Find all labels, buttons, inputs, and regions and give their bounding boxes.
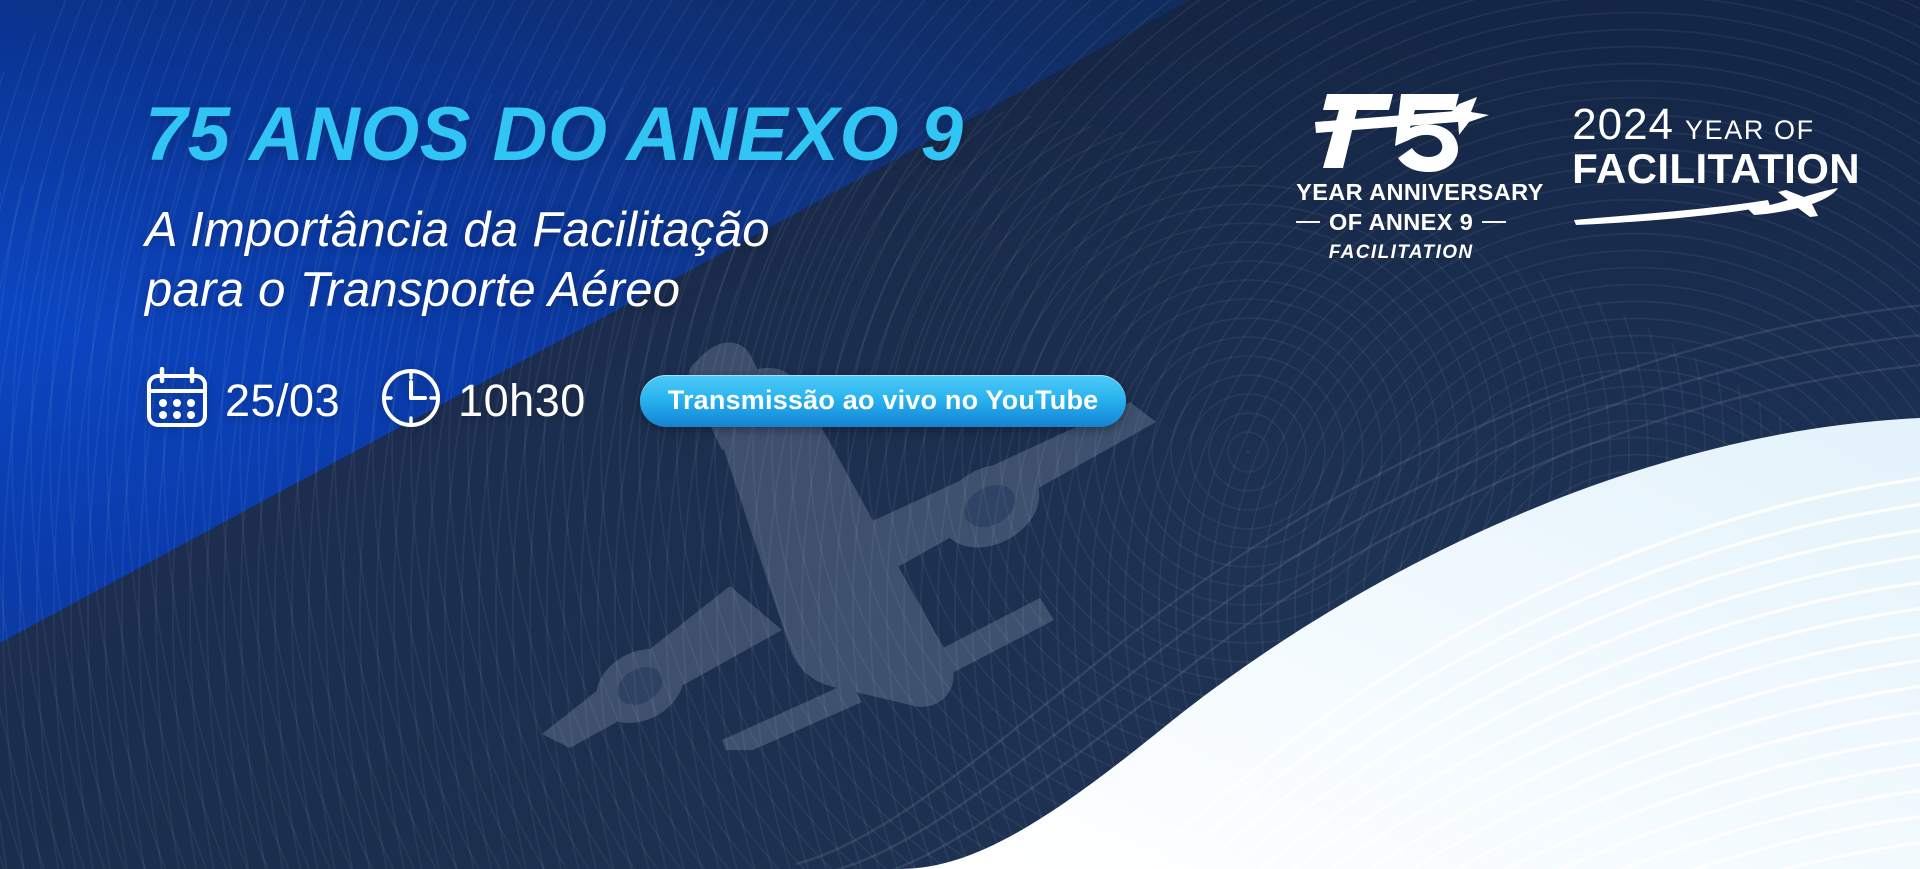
year-text: 2024 [1572, 100, 1674, 150]
airplane-contrail-icon [1572, 187, 1860, 232]
year-of-text: YEAR OF [1685, 115, 1815, 146]
event-time-text: 10h30 [458, 378, 586, 423]
anniversary-line-2: OF ANNEX 9 [1329, 209, 1473, 236]
rule-left [1296, 221, 1320, 223]
event-date-text: 25/03 [225, 378, 340, 423]
anniversary-line-2-row: OF ANNEX 9 [1296, 209, 1506, 236]
anniversary-line-1: YEAR ANNIVERSARY [1296, 180, 1506, 206]
subtitle-line-1: A Importância da Facilitação [145, 200, 1205, 261]
facilitation-text: FACILITATION [1572, 148, 1860, 191]
page-title: 75 ANOS DO ANEXO 9 [145, 96, 1205, 174]
event-meta-row: 25/03 10h30 Transmissão a [145, 367, 1205, 434]
banner-content: 75 ANOS DO ANEXO 9 A Importância da Faci… [145, 96, 1205, 434]
subtitle-line-2: para o Transporte Aéreo [145, 260, 1205, 321]
event-banner: 75 ANOS DO ANEXO 9 A Importância da Faci… [0, 0, 1920, 869]
clock-icon [380, 367, 442, 434]
live-stream-button[interactable]: Transmissão ao vivo no YouTube [640, 375, 1127, 427]
calendar-icon [145, 367, 209, 434]
anniversary-line-3: FACILITATION [1296, 242, 1506, 264]
rule-right [1482, 221, 1506, 223]
year-of-facilitation-logo: 2024 YEAR OF FACILITATION [1572, 88, 1860, 232]
page-subtitle: A Importância da Facilitação para o Tran… [145, 200, 1205, 322]
year-of-facilitation-top-row: 2024 YEAR OF [1572, 100, 1860, 150]
event-time: 10h30 [380, 367, 586, 434]
anniversary-logo: YEAR ANNIVERSARY OF ANNEX 9 FACILITATION [1296, 88, 1506, 264]
anniversary-75-mark-icon [1296, 88, 1506, 174]
logo-group: YEAR ANNIVERSARY OF ANNEX 9 FACILITATION… [1296, 88, 1860, 264]
event-date: 25/03 [145, 367, 340, 434]
